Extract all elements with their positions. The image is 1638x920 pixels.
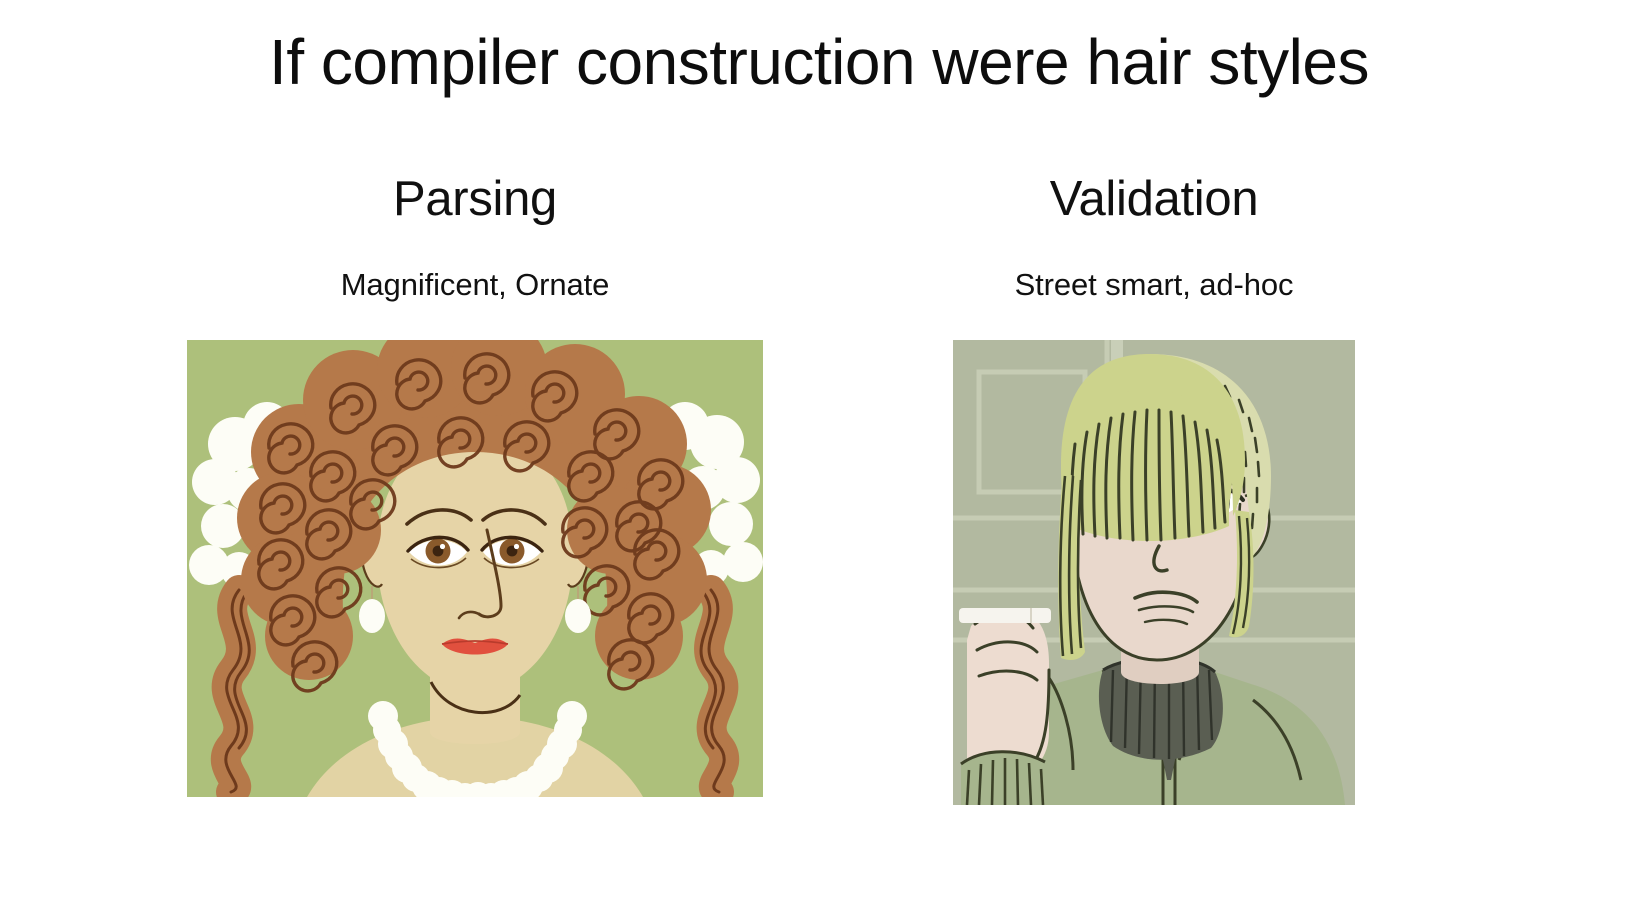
column-subtitle-parsing: Magnificent, Ornate [187,267,763,303]
page-title: If compiler construction were hair style… [0,26,1638,100]
cigarette [959,608,1051,623]
eye-left [408,537,468,567]
figure-wrap-parsing [187,340,763,797]
column-subtitle-validation: Street smart, ad-hoc [953,267,1355,303]
slide-root: If compiler construction were hair style… [0,0,1638,920]
parsing-illustration [187,340,763,797]
jacket-cuff [961,752,1045,805]
validation-illustration [953,340,1355,805]
column-heading-parsing: Parsing [187,170,763,229]
figure-wrap-validation [953,340,1355,805]
columns-container: Parsing Magnificent, Ornate [0,170,1638,870]
column-parsing: Parsing Magnificent, Ornate [187,170,763,797]
column-validation: Validation Street smart, ad-hoc [953,170,1355,805]
column-heading-validation: Validation [953,170,1355,229]
